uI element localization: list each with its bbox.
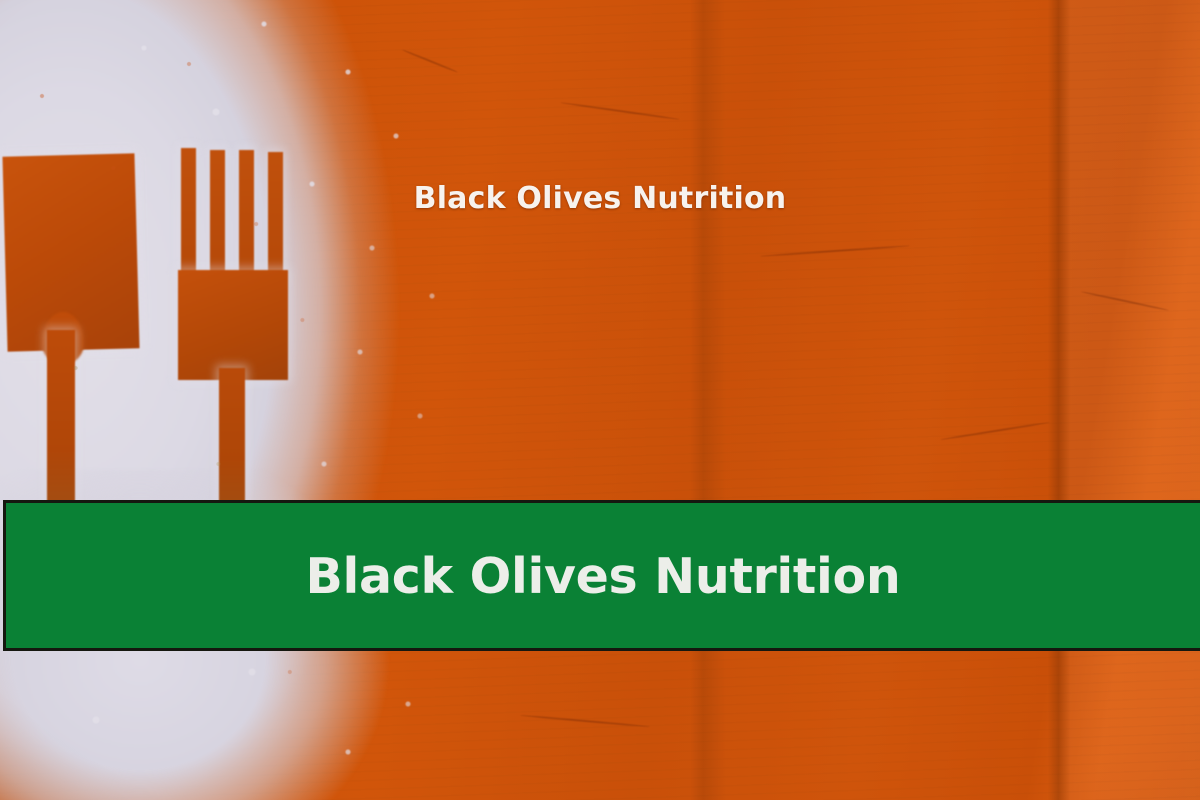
banner-title: Black Olives Nutrition (306, 552, 901, 601)
green-banner: Black Olives Nutrition (3, 500, 1200, 651)
flour-grit-texture (0, 0, 420, 800)
screenshot-root: Black Olives Nutrition Black Olives Nutr… (0, 0, 1200, 800)
photo-overlay-title: Black Olives Nutrition (0, 181, 1200, 216)
flour-powder-field (0, 0, 1200, 800)
